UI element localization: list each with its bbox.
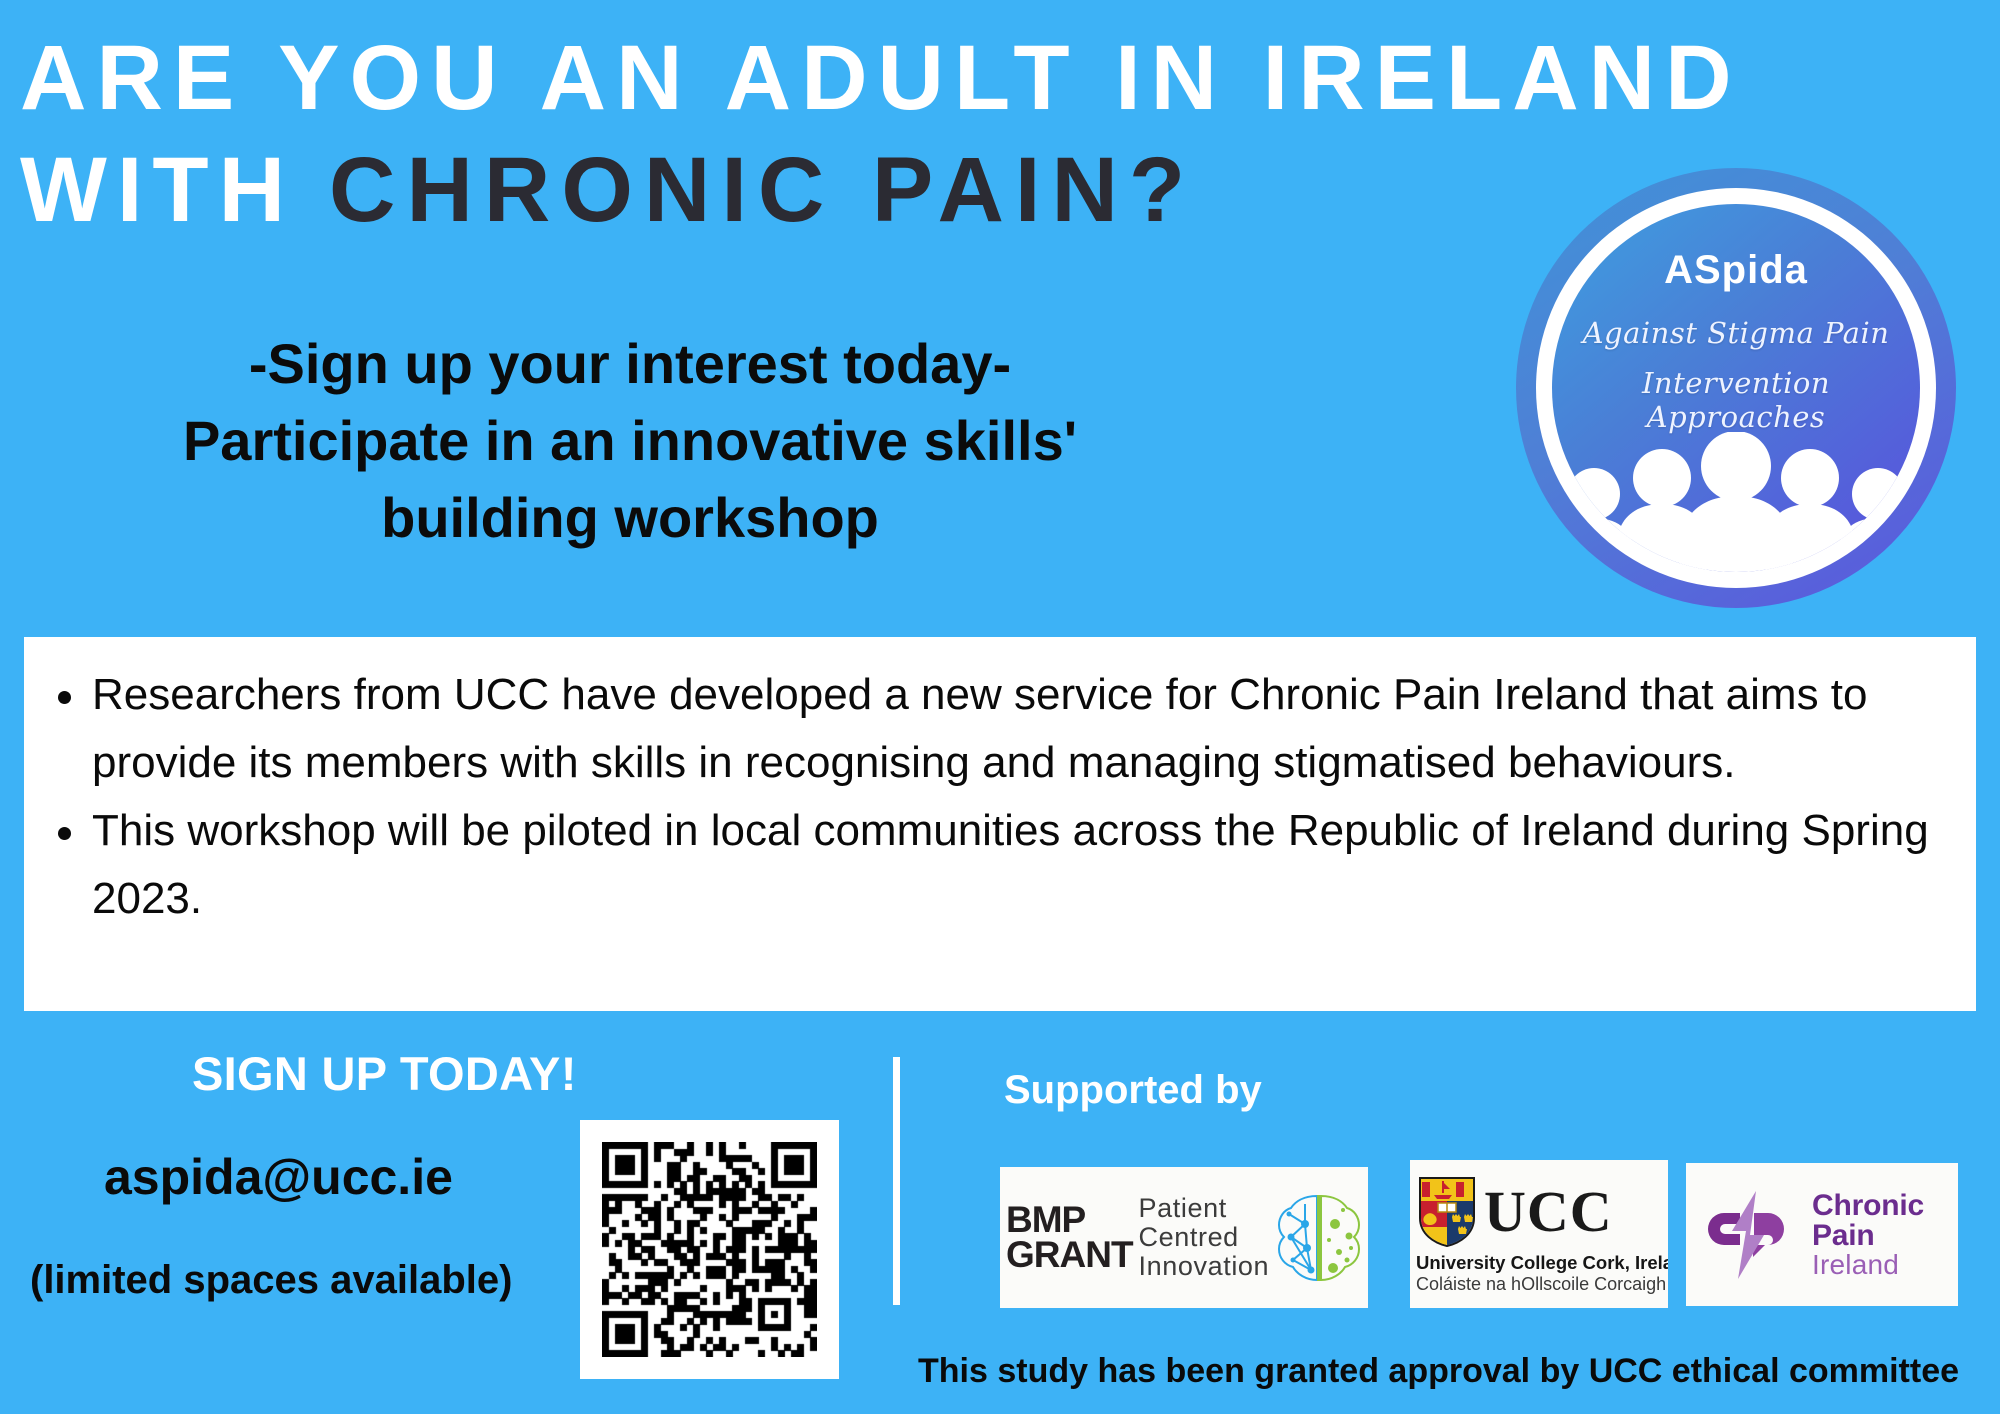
cpi-line-1: Chronic bbox=[1812, 1191, 1924, 1221]
ucc-name-irish: Coláiste na hOllscoile Corcaigh bbox=[1416, 1274, 1662, 1295]
cpi-line-2: Pain bbox=[1812, 1221, 1924, 1251]
brain-network-icon bbox=[1277, 1190, 1361, 1286]
headline-line-2-dark: CHRONIC PAIN? bbox=[329, 139, 1196, 241]
supported-by-label: Supported by bbox=[1004, 1068, 1262, 1113]
ucc-crest-icon bbox=[1416, 1175, 1478, 1249]
vertical-divider bbox=[893, 1057, 900, 1305]
bmp-word-1: Patient bbox=[1139, 1194, 1270, 1223]
aspida-acronym: ASpida bbox=[1552, 248, 1920, 293]
cpi-mark-icon bbox=[1694, 1187, 1802, 1283]
ucc-name-english: University College Cork, Ireland bbox=[1416, 1252, 1662, 1274]
signup-title: SIGN UP TODAY! bbox=[192, 1046, 577, 1101]
bmp-word-2: Centred bbox=[1139, 1223, 1270, 1252]
ethics-approval-note: This study has been granted approval by … bbox=[918, 1352, 1959, 1391]
subheading-line-1: -Sign up your interest today- bbox=[90, 325, 1170, 402]
aspida-tagline-line-2: Intervention Approaches bbox=[1552, 366, 1920, 434]
aspida-inner-disc: ASpida Against Stigma Pain Intervention … bbox=[1552, 204, 1920, 572]
poster-root: ARE YOU AN ADULT IN IRELAND WITHCHRONIC … bbox=[0, 0, 2000, 1414]
ucc-acronym: UCC bbox=[1484, 1184, 1613, 1239]
bmp-acronym-line-1: BMP bbox=[1006, 1203, 1133, 1237]
cpi-line-3: Ireland bbox=[1812, 1251, 1924, 1279]
logo-chronic-pain-ireland: Chronic Pain Ireland bbox=[1686, 1163, 1958, 1306]
info-box: Researchers from UCC have developed a ne… bbox=[24, 637, 1976, 1011]
aspida-tagline-line-1: Against Stigma Pain bbox=[1552, 316, 1920, 350]
signup-email[interactable]: aspida@ucc.ie bbox=[104, 1148, 453, 1206]
logo-ucc: UCC University College Cork, Ireland Col… bbox=[1410, 1160, 1668, 1308]
subheading-block: -Sign up your interest today- Participat… bbox=[90, 325, 1170, 556]
bullet-item-1: Researchers from UCC have developed a ne… bbox=[92, 661, 1946, 797]
signup-note: (limited spaces available) bbox=[30, 1258, 512, 1303]
qr-code[interactable] bbox=[580, 1120, 839, 1379]
subheading-line-2: Participate in an innovative skills' bbox=[90, 402, 1170, 479]
qr-code-canvas[interactable] bbox=[602, 1142, 817, 1357]
logo-bmp-grant: BMP GRANT Patient Centred Innovation bbox=[1000, 1167, 1368, 1308]
aspida-logo: ASpida Against Stigma Pain Intervention … bbox=[1516, 168, 1956, 608]
bullet-list: Researchers from UCC have developed a ne… bbox=[46, 661, 1946, 933]
bmp-word-3: Innovation bbox=[1139, 1252, 1270, 1281]
headline-line-1: ARE YOU AN ADULT IN IRELAND bbox=[20, 22, 1995, 134]
subheading-line-3: building workshop bbox=[90, 479, 1170, 556]
bmp-acronym-line-2: GRANT bbox=[1006, 1238, 1133, 1272]
headline-line-2-white: WITH bbox=[20, 139, 295, 241]
people-silhouettes-icon bbox=[1552, 432, 1920, 572]
bullet-item-2: This workshop will be piloted in local c… bbox=[92, 797, 1946, 933]
